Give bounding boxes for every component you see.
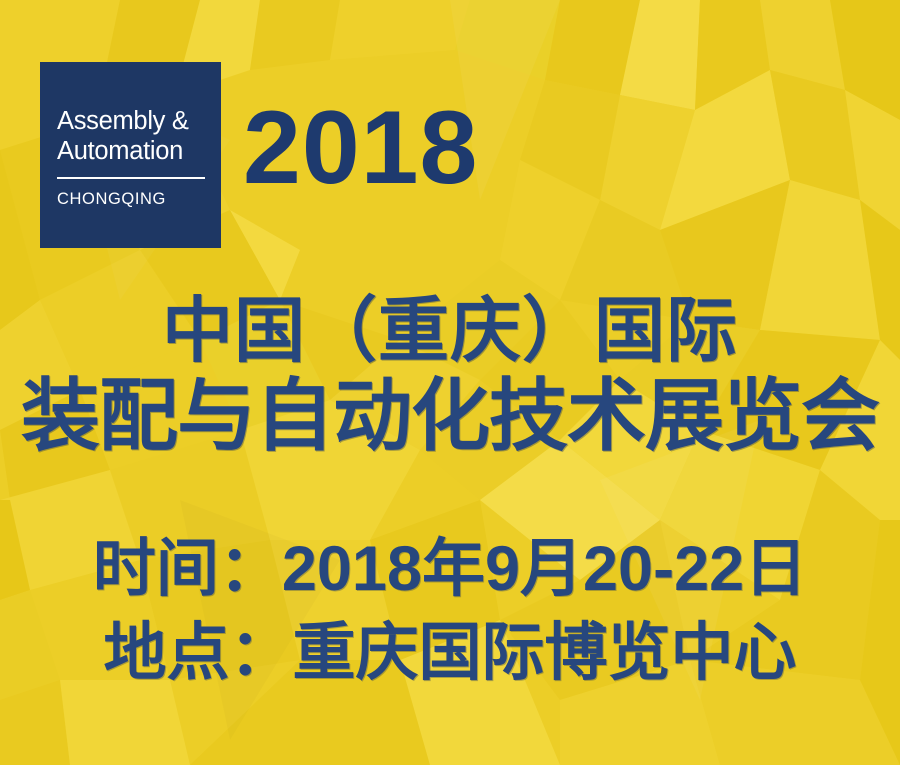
event-info: 时间：2018年9月20-22日 地点：重庆国际博览中心 — [0, 528, 900, 694]
logo-city-label: CHONGQING — [57, 189, 207, 209]
brand-logo-inner: Assembly & Automation CHONGQING — [57, 106, 207, 209]
poster-canvas: Assembly & Automation CHONGQING 2018 中国（… — [0, 0, 900, 765]
event-venue-line: 地点：重庆国际博览中心 — [0, 612, 900, 694]
event-title-line-1: 中国（重庆）国际 — [0, 292, 900, 372]
event-date-line: 时间：2018年9月20-22日 — [0, 528, 900, 610]
brand-name-line-1: Assembly & — [57, 106, 207, 136]
event-title-line-2: 装配与自动化技术展览会 — [0, 370, 900, 462]
event-title: 中国（重庆）国际 装配与自动化技术展览会 — [0, 292, 900, 462]
logo-divider — [57, 177, 205, 179]
brand-name-line-2: Automation — [57, 136, 207, 166]
event-year: 2018 — [243, 96, 478, 200]
brand-logo: Assembly & Automation CHONGQING — [40, 62, 221, 248]
poster-content: Assembly & Automation CHONGQING 2018 中国（… — [0, 0, 900, 765]
